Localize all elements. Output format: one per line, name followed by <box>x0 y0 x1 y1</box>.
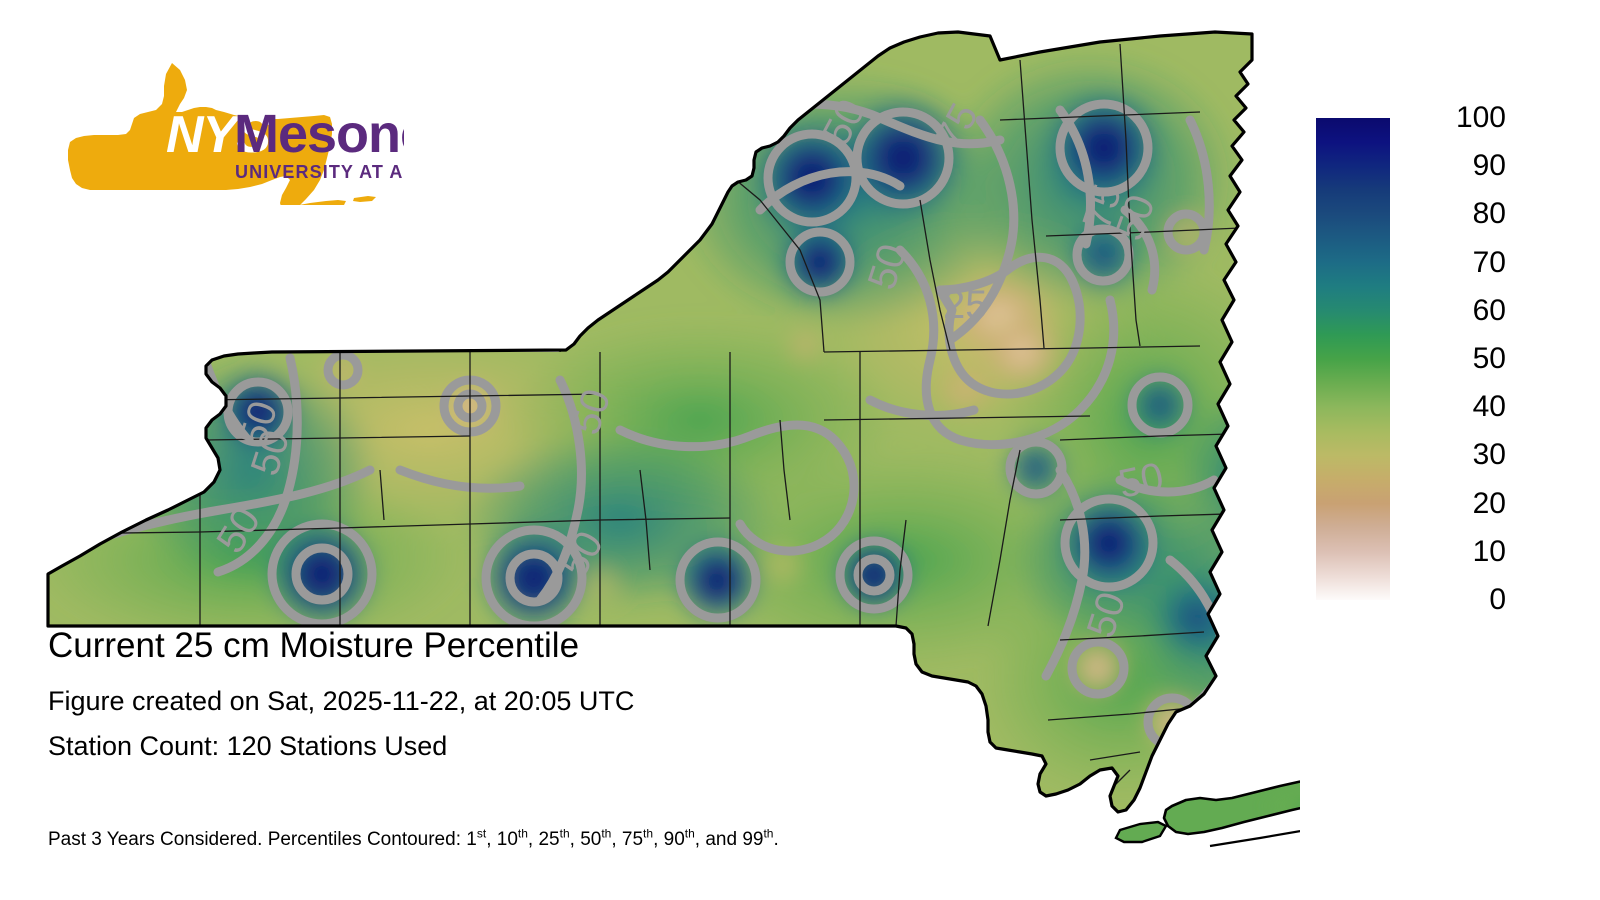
colorbar-tick: 10 <box>1398 537 1506 567</box>
percentile-value: 90 <box>664 829 685 850</box>
percentile-ordinal: th <box>601 827 611 841</box>
caption-block: Current 25 cm Moisture Percentile Figure… <box>48 625 1048 763</box>
colorbar-tick: 30 <box>1398 440 1506 470</box>
percentile-value: 25 <box>538 829 559 850</box>
colorbar-tick: 0 <box>1398 585 1506 615</box>
colorbar: 1009080706050403020100 <box>1316 118 1586 608</box>
colorbar-tick-labels: 1009080706050403020100 <box>1398 118 1518 600</box>
colorbar-tick: 70 <box>1398 248 1506 278</box>
percentile-ordinal: st <box>477 827 486 841</box>
staten-island-outline <box>1116 822 1166 842</box>
colorbar-tick: 100 <box>1398 103 1506 133</box>
station-count: Station Count: 120 Stations Used <box>48 730 1048 763</box>
percentile-ordinal: th <box>643 827 653 841</box>
moisture-field-long-island <box>1150 766 1300 850</box>
percentile-ordinal: th <box>685 827 695 841</box>
colorbar-tick: 80 <box>1398 199 1506 229</box>
colorbar-tick: 60 <box>1398 296 1506 326</box>
contour-label: 25 <box>943 283 988 327</box>
footnote: Past 3 Years Considered. Percentiles Con… <box>48 828 779 851</box>
colorbar-tick: 40 <box>1398 392 1506 422</box>
percentile-ordinal: th <box>518 827 528 841</box>
colorbar-gradient <box>1316 118 1390 600</box>
percentile-value: 75 <box>622 829 643 850</box>
colorbar-tick: 90 <box>1398 151 1506 181</box>
percentile-ordinal: th <box>763 827 773 841</box>
percentile-value: 10 <box>497 829 518 850</box>
colorbar-tick: 20 <box>1398 489 1506 519</box>
figure-created-at: Figure created on Sat, 2025-11-22, at 20… <box>48 685 1048 718</box>
colorbar-tick: 50 <box>1398 344 1506 374</box>
percentile-value: 1 <box>466 829 477 850</box>
percentile-value: 50 <box>580 829 601 850</box>
contour-label: 50 <box>1115 455 1168 507</box>
page-title: Current 25 cm Moisture Percentile <box>48 625 1048 667</box>
percentile-ordinal: th <box>560 827 570 841</box>
percentile-value: 99 <box>742 829 763 850</box>
